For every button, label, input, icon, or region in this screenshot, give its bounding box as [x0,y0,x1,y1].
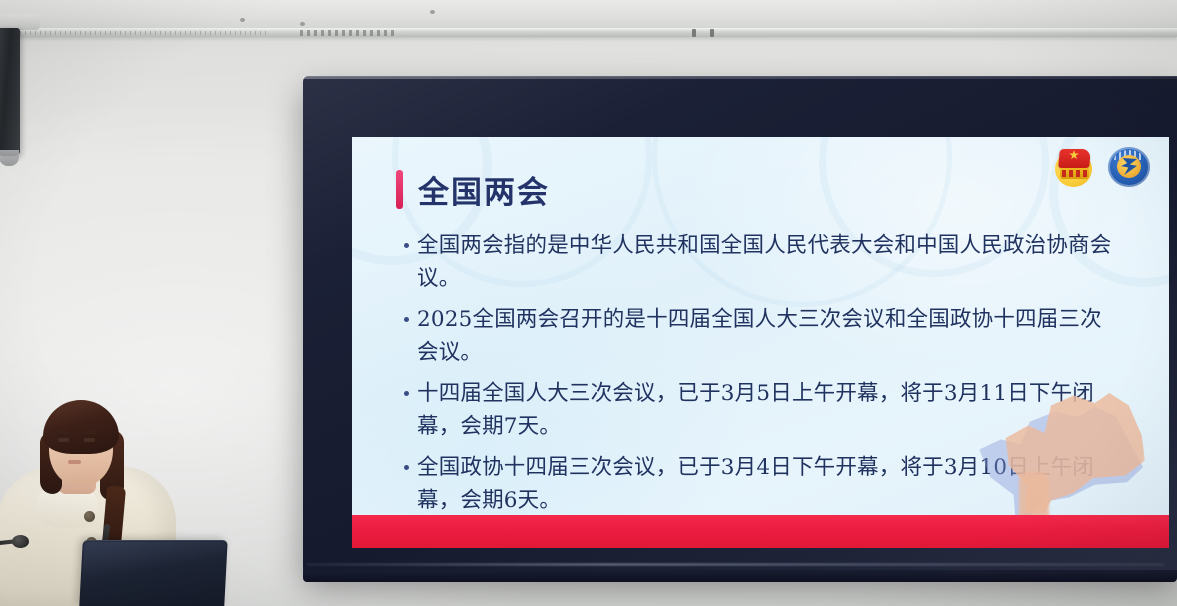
school-crest-emblem-icon [1107,144,1151,188]
list-item: 十四届全国人大三次会议，已于3月5日上午开幕，将于3月11日下午闭幕，会期7天。 [404,377,1122,443]
list-item: 全国政协十四届三次会议，已于3月4日下午开幕，将于3月10日上午闭幕，会期6天。 [404,451,1122,517]
presenter-eyebrow [57,431,69,434]
slide-logos [1052,144,1151,188]
presenter-laptop[interactable] [79,540,227,606]
bullet-text: 2025全国两会召开的是十四届全国人大三次会议和全国政协十四届三次会议。 [417,303,1122,369]
ceiling-screw [300,22,305,26]
bullet-text: 全国两会指的是中华人民共和国全国人民代表大会和中国人民政治协商会议。 [417,229,1122,295]
ceiling-projector-arm-icon [0,28,20,156]
presentation-slide[interactable]: 全国两会 全国两会指的是中华人民共和国全国人民代表大会和中国人民政治协商会议。 … [352,137,1169,548]
bullet-text: 全国政协十四届三次会议，已于3月4日下午开幕，将于3月10日上午闭幕，会期6天。 [417,451,1122,517]
bullet-dot-icon [404,465,409,470]
bullet-dot-icon [404,391,409,396]
rail-label-strip [300,30,395,36]
list-item: 全国两会指的是中华人民共和国全国人民代表大会和中国人民政治协商会议。 [404,229,1122,295]
classroom-scene: 全国两会 全国两会指的是中华人民共和国全国人民代表大会和中国人民政治协商会议。 … [0,0,1177,606]
bezel-top-highlight [303,76,1177,79]
display-base-edge [303,570,1177,582]
bullet-dot-icon [404,317,409,322]
podium-microphone [12,535,29,548]
slide-title: 全国两会 [418,167,550,212]
bezel-bottom-highlight [307,563,1164,566]
presenter-eye [58,438,69,442]
slide-bullet-list: 全国两会指的是中华人民共和国全国人民代表大会和中国人民政治协商会议。 2025全… [404,229,1122,525]
presenter-hair-top [43,400,119,454]
presenter-speaker [0,390,226,606]
ceiling-screw [430,10,435,14]
bullet-dot-icon [404,243,409,248]
wall-mounted-display[interactable]: 全国两会 全国两会指的是中华人民共和国全国人民代表大会和中国人民政治协商会议。 … [303,76,1177,574]
presenter-mouth [68,460,81,464]
slide-title-row: 全国两会 [396,167,550,212]
bullet-text: 十四届全国人大三次会议，已于3月5日上午开幕，将于3月11日下午闭幕，会期7天。 [417,377,1122,443]
ceiling-screw [240,18,245,22]
title-accent-bar [396,170,403,209]
slide-footer-bar [352,515,1169,548]
communist-youth-league-emblem-icon [1052,144,1096,188]
list-item: 2025全国两会召开的是十四届全国人大三次会议和全国政协十四届三次会议。 [404,303,1122,369]
presenter-eyebrow [84,431,96,434]
rail-perforations [10,31,270,35]
sweater-button [84,511,95,522]
presenter-eye [84,438,95,442]
rail-mount-dots [690,29,724,38]
